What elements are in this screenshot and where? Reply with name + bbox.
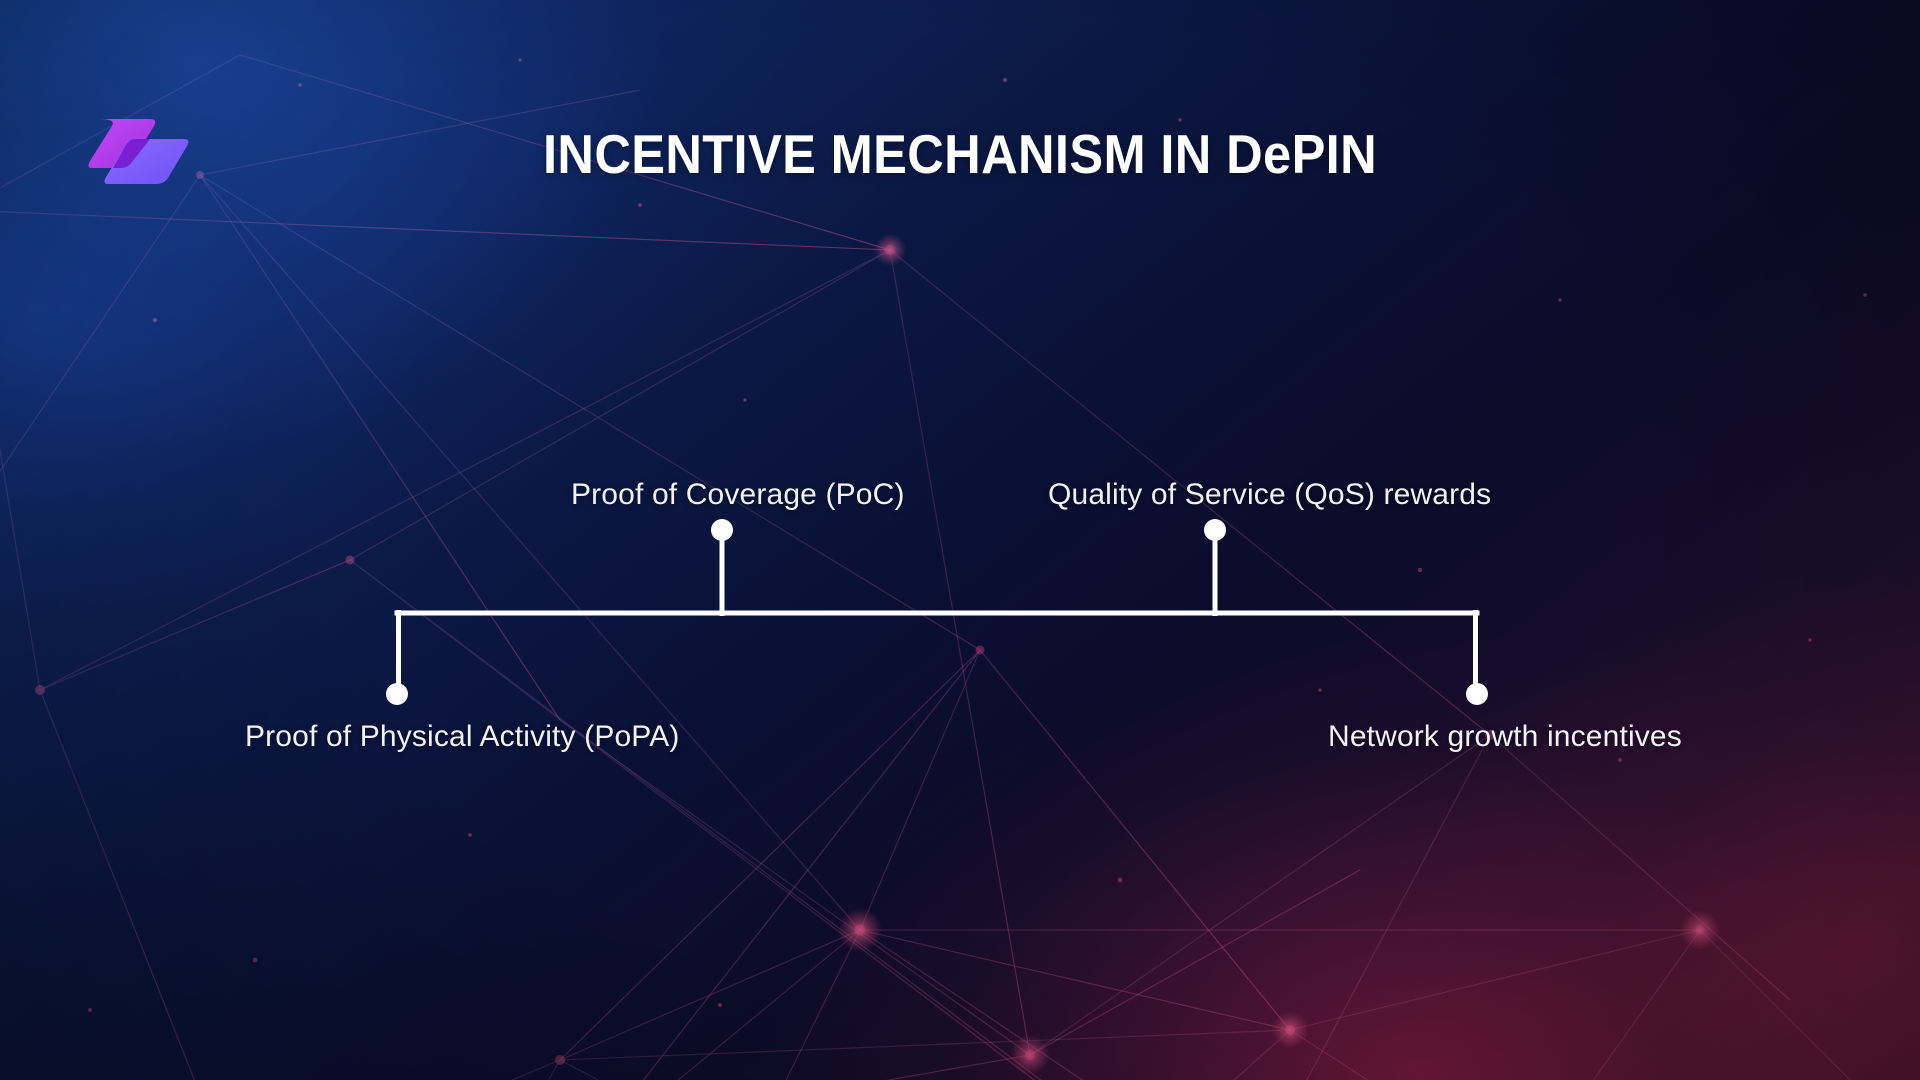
node-dot-popa[interactable]: [386, 683, 408, 705]
bracket-diagram: [0, 0, 1920, 1080]
node-label-qos: Quality of Service (QoS) rewards: [1048, 477, 1491, 513]
node-dot-qos[interactable]: [1204, 519, 1226, 541]
slide-canvas: INCENTIVE MECHANISM IN DePIN Proof of Co…: [0, 0, 1920, 1080]
node-label-popa: Proof of Physical Activity (PoPA): [245, 719, 680, 755]
node-dot-ngi[interactable]: [1466, 683, 1488, 705]
node-label-poc: Proof of Coverage (PoC): [571, 477, 905, 513]
node-dot-poc[interactable]: [711, 519, 733, 541]
node-label-ngi: Network growth incentives: [1328, 719, 1682, 755]
